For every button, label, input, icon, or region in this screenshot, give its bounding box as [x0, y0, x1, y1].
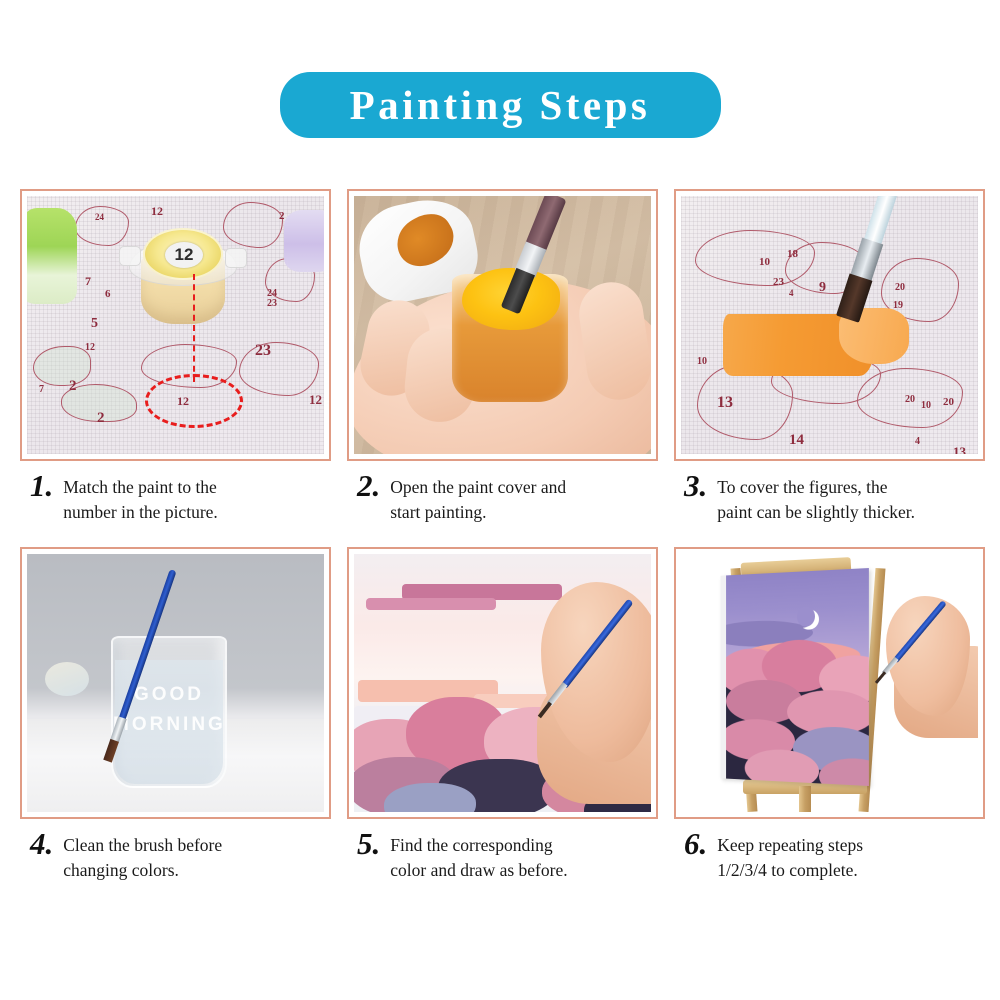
- step-6-caption: 6. Keep repeating steps 1/2/3/4 to compl…: [674, 829, 985, 883]
- title-banner: Painting Steps: [280, 72, 721, 138]
- step-5-image-frame: [347, 547, 658, 819]
- canvas-number: 9: [819, 280, 826, 296]
- step-2-photo: [354, 196, 651, 454]
- step-3-number: 3.: [684, 471, 707, 501]
- canvas-number: 20: [895, 282, 905, 293]
- step-1: 12 24 2 7 6 5 12 2 7 2 23 24 23 12: [20, 189, 331, 525]
- canvas-number: 4: [915, 436, 920, 447]
- step-2-number: 2.: [357, 471, 380, 501]
- canvas-number: 2: [279, 210, 285, 222]
- step-3-photo: 10 18 23 4 9 20 19 13 10 20 14 20 10 20 …: [681, 196, 978, 454]
- canvas-number: 18: [787, 248, 798, 260]
- step-5-text-line1: Find the corresponding: [390, 833, 567, 858]
- step-4-text: Clean the brush before changing colors.: [63, 829, 222, 883]
- canvas-number: 5: [91, 316, 98, 332]
- step-6-image-frame: [674, 547, 985, 819]
- finished-painting-canvas: [721, 568, 869, 786]
- blossom-cluster: [384, 783, 476, 812]
- step-1-text-line1: Match the paint to the: [63, 475, 218, 500]
- canvas-number: 12: [309, 392, 322, 408]
- step-3: 10 18 23 4 9 20 19 13 10 20 14 20 10 20 …: [674, 189, 985, 525]
- step-6-text-line2: 1/2/3/4 to complete.: [717, 858, 863, 883]
- sky-band: [366, 598, 496, 610]
- green-paint-pot: [27, 208, 77, 304]
- step-3-text-line1: To cover the figures, the: [717, 475, 915, 500]
- canvas-number: 12: [151, 204, 163, 219]
- background-object: [45, 662, 89, 696]
- canvas-number: 12: [85, 342, 95, 353]
- easel-center-post: [799, 786, 811, 812]
- purple-paint-pot: [284, 210, 324, 272]
- step-6: 6. Keep repeating steps 1/2/3/4 to compl…: [674, 547, 985, 883]
- canvas-number: 4: [789, 288, 794, 298]
- step-5-photo: [354, 554, 651, 812]
- canvas-number: 10: [759, 256, 770, 268]
- canvas-number: 23: [773, 276, 784, 288]
- canvas-shape: [239, 342, 319, 396]
- blossom-mass: [726, 664, 869, 786]
- step-5-text-line2: color and draw as before.: [390, 858, 567, 883]
- crescent-moon: [793, 607, 813, 628]
- canvas-number: 2: [97, 410, 105, 427]
- yellow-paint-pot: 12: [121, 222, 245, 326]
- step-4-text-line1: Clean the brush before: [63, 833, 222, 858]
- brush-bristles: [875, 671, 886, 684]
- step-4-photo: GOOD MORNING: [27, 554, 324, 812]
- canvas-number: 10: [921, 400, 931, 411]
- step-5: 5. Find the corresponding color and draw…: [347, 547, 658, 883]
- step-6-photo: [681, 554, 978, 812]
- glass-text-line2: MORNING: [113, 714, 225, 736]
- canvas-number: 2: [69, 378, 77, 395]
- canvas-number: 10: [697, 356, 707, 367]
- step-1-photo: 12 24 2 7 6 5 12 2 7 2 23 24 23 12: [27, 196, 324, 454]
- title-area: Painting Steps: [0, 72, 1000, 138]
- step-1-caption: 1. Match the paint to the number in the …: [20, 471, 331, 525]
- step-5-caption: 5. Find the corresponding color and draw…: [347, 829, 658, 883]
- canvas-number: 20: [943, 396, 954, 408]
- step-4-caption: 4. Clean the brush before changing color…: [20, 829, 331, 883]
- step-1-image-frame: 12 24 2 7 6 5 12 2 7 2 23 24 23 12: [20, 189, 331, 461]
- pot-tab-right: [225, 248, 247, 268]
- red-dashed-pointer-line: [193, 274, 195, 382]
- pot-tab-left: [119, 246, 141, 266]
- canvas-number: 7: [39, 384, 44, 395]
- step-2-caption: 2. Open the paint cover and start painti…: [347, 471, 658, 525]
- canvas-shape: [33, 346, 91, 386]
- canvas-number: 23: [267, 298, 277, 309]
- step-3-text: To cover the figures, the paint can be s…: [717, 471, 915, 525]
- painting-steps-infographic: Painting Steps 12 24 2 7: [0, 0, 1000, 1000]
- canvas-number: 20: [905, 394, 915, 405]
- step-2-text-line2: start painting.: [390, 500, 566, 525]
- step-2-text-line1: Open the paint cover and: [390, 475, 566, 500]
- step-1-text: Match the paint to the number in the pic…: [63, 471, 218, 525]
- paint-residue-on-lid: [388, 205, 462, 276]
- highlighted-canvas-number: 12: [177, 394, 189, 409]
- steps-grid: 12 24 2 7 6 5 12 2 7 2 23 24 23 12: [20, 189, 985, 883]
- canvas-number: 7: [85, 274, 91, 289]
- canvas-number: 6: [105, 288, 111, 300]
- canvas-number: 14: [789, 432, 804, 449]
- step-2-text: Open the paint cover and start painting.: [390, 471, 566, 525]
- step-3-text-line2: paint can be slightly thicker.: [717, 500, 915, 525]
- pot-number-label: 12: [165, 242, 203, 268]
- page-title: Painting Steps: [350, 85, 651, 126]
- step-2: 2. Open the paint cover and start painti…: [347, 189, 658, 525]
- step-1-text-line2: number in the picture.: [63, 500, 218, 525]
- canvas-number: 23: [255, 342, 271, 360]
- canvas-number: 13: [953, 444, 966, 454]
- step-3-caption: 3. To cover the figures, the paint can b…: [674, 471, 985, 525]
- step-4-number: 4.: [30, 829, 53, 859]
- red-dashed-highlight-circle: [145, 374, 243, 428]
- step-3-image-frame: 10 18 23 4 9 20 19 13 10 20 14 20 10 20 …: [674, 189, 985, 461]
- step-5-text: Find the corresponding color and draw as…: [390, 829, 567, 883]
- step-6-number: 6.: [684, 829, 707, 859]
- step-2-image-frame: [347, 189, 658, 461]
- step-4-image-frame: GOOD MORNING: [20, 547, 331, 819]
- step-5-number: 5.: [357, 829, 380, 859]
- step-6-text: Keep repeating steps 1/2/3/4 to complete…: [717, 829, 863, 883]
- canvas-number: 24: [95, 212, 104, 222]
- step-6-text-line1: Keep repeating steps: [717, 833, 863, 858]
- step-1-number: 1.: [30, 471, 53, 501]
- canvas-number: 13: [717, 394, 733, 412]
- step-4-text-line2: changing colors.: [63, 858, 222, 883]
- step-4: GOOD MORNING 4. Clean the brush before c…: [20, 547, 331, 883]
